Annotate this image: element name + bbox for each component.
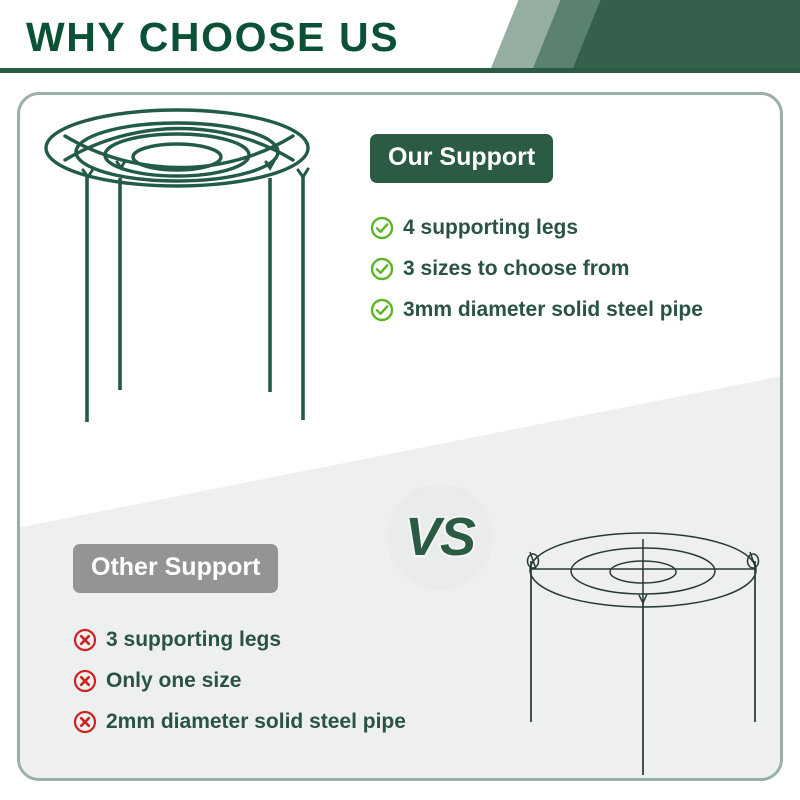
header-divider-rule xyxy=(0,68,800,73)
x-circle-icon xyxy=(73,710,97,734)
other-support-feature-list: 3 supporting legs Only one size xyxy=(73,619,503,742)
list-item: 3mm diameter solid steel pipe xyxy=(370,289,770,330)
other-support-product-image xyxy=(500,435,783,775)
list-item-label: 2mm diameter solid steel pipe xyxy=(106,710,406,734)
header-accent-band-dark xyxy=(571,0,800,72)
our-support-feature-list: 4 supporting legs 3 sizes to choose from xyxy=(370,207,770,330)
our-support-product-image xyxy=(25,100,355,445)
other-support-badge: Other Support xyxy=(73,544,278,593)
page-title: WHY CHOOSE US xyxy=(26,13,399,61)
list-item: 4 supporting legs xyxy=(370,207,770,248)
x-circle-icon xyxy=(73,669,97,693)
list-item-label: 4 supporting legs xyxy=(403,216,578,240)
list-item-label: Only one size xyxy=(106,669,241,693)
comparison-card: VS Our Support 4 supporting legs xyxy=(17,92,783,781)
check-circle-icon xyxy=(370,216,394,240)
list-item-label: 3 sizes to choose from xyxy=(403,257,629,281)
our-support-badge: Our Support xyxy=(370,134,553,183)
list-item: 2mm diameter solid steel pipe xyxy=(73,701,503,742)
list-item: 3 sizes to choose from xyxy=(370,248,770,289)
other-support-panel: Other Support 3 supporting legs xyxy=(73,544,503,758)
page-header: WHY CHOOSE US xyxy=(0,0,800,73)
check-circle-icon xyxy=(370,257,394,281)
our-support-panel: Our Support 4 supporting legs xyxy=(370,134,770,346)
check-circle-icon xyxy=(370,298,394,322)
list-item-label: 3mm diameter solid steel pipe xyxy=(403,298,703,322)
list-item-label: 3 supporting legs xyxy=(106,628,281,652)
x-circle-icon xyxy=(73,628,97,652)
list-item: Only one size xyxy=(73,660,503,701)
list-item: 3 supporting legs xyxy=(73,619,503,660)
